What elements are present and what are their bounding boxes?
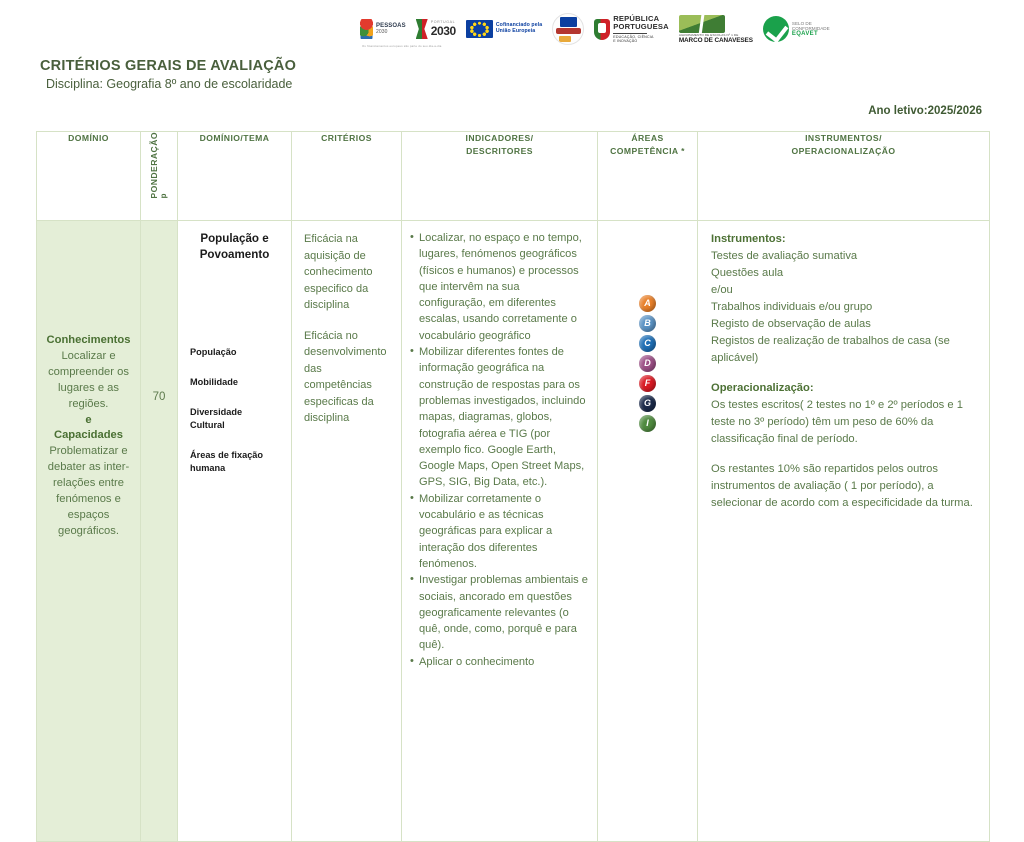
instrumento-item: Questões aula bbox=[711, 265, 975, 282]
dominio-heading-conhecimentos: Conhecimentos bbox=[47, 334, 131, 346]
competence-badge-i: I bbox=[639, 415, 656, 432]
dominio-heading-capacidades: Capacidades bbox=[54, 429, 123, 441]
instrumento-item: Testes de avaliação sumativa bbox=[711, 248, 975, 265]
operacionalizacao-heading: Operacionalização: bbox=[711, 382, 814, 394]
hills-icon bbox=[679, 15, 725, 33]
cell-dominio-tema: População e Povoamento População Mobilid… bbox=[178, 221, 292, 842]
logo-disclaimer: Os financiamentos europeus são parte do … bbox=[362, 44, 441, 48]
criterio-item: Eficácia na aquisição de conhecimento es… bbox=[304, 231, 392, 314]
column-header-ponderacao-label: PONDERAÇÃO bbox=[148, 132, 161, 199]
column-header-ponderacao: PONDERAÇÃOp bbox=[141, 132, 178, 221]
column-header-instrumentos: INSTRUMENTOS/ OPERACIONALIZAÇÃO bbox=[698, 132, 990, 221]
table-header-row: DOMÍNIO PONDERAÇÃOp DOMÍNIO/TEMA CRITÉRI… bbox=[37, 132, 990, 221]
criterios-avaliacao-document: { "header": { "title": "CRITÉRIOS GERAIS… bbox=[0, 0, 1024, 724]
list-item: Aplicar o conhecimento bbox=[410, 654, 589, 670]
column-header-ponderacao-suffix: p bbox=[158, 193, 170, 198]
indicadores-list: Localizar, no espaço e no tempo, lugares… bbox=[410, 230, 589, 670]
page-subtitle: Disciplina: Geografia 8º ano de escolari… bbox=[46, 77, 292, 91]
list-item: Localizar, no espaço e no tempo, lugares… bbox=[410, 230, 589, 344]
list-item: Investigar problemas ambientais e sociai… bbox=[410, 572, 589, 653]
cell-criterios: Eficácia na aquisição de conhecimento es… bbox=[292, 221, 402, 842]
list-item: Diversidade Cultural bbox=[190, 406, 279, 432]
operacionalizacao-block: Operacionalização: Os testes escritos( 2… bbox=[711, 380, 975, 448]
eu-flag-icon bbox=[466, 20, 493, 38]
marco-logo-line2: MARCO DE CANAVESES bbox=[679, 37, 753, 44]
column-header-areas-competencia: ÁREAS COMPETÊNCIA * bbox=[598, 132, 698, 221]
column-header-dominio-tema: DOMÍNIO/TEMA bbox=[178, 132, 292, 221]
cell-dominio: Conhecimentos Localizar e compreender os… bbox=[37, 221, 141, 842]
column-header-indicadores: INDICADORES/ DESCRITORES bbox=[402, 132, 598, 221]
tema-list: População Mobilidade Diversidade Cultura… bbox=[190, 346, 279, 474]
cell-ponderacao: 70 bbox=[141, 221, 178, 842]
table-row: Conhecimentos Localizar e compreender os… bbox=[37, 221, 990, 842]
eqavet-logo: SELO DE CONFORMIDADE EQAVET bbox=[763, 12, 830, 46]
dominio-text-capacidades: Problematizar e debater as inter-relaçõe… bbox=[45, 444, 132, 539]
column-header-dominio: DOMÍNIO bbox=[37, 132, 141, 221]
republica-portuguesa-seal-logo bbox=[552, 12, 584, 46]
portugal-2030-logo-line2: 2030 bbox=[431, 24, 456, 38]
cell-instrumentos: Instrumentos: Testes de avaliação sumati… bbox=[698, 221, 990, 842]
eqavet-logo-line1: SELO DE CONFORMIDADE bbox=[792, 21, 830, 31]
uniao-europeia-logo-line2: União Europeia bbox=[496, 29, 542, 35]
competence-badge-list: A B C D F G I bbox=[639, 295, 656, 435]
column-header-areas-line2: COMPETÊNCIA * bbox=[598, 145, 697, 158]
uniao-europeia-logo: Cofinanciado pela União Europeia bbox=[466, 12, 542, 46]
eqavet-logo-line2: EQAVET bbox=[792, 31, 830, 37]
republica-portuguesa-logo: REPÚBLICA PORTUGUESA EDUCAÇÃO, CIÊNCIA E… bbox=[594, 12, 669, 46]
portugal-2030-mark-icon bbox=[416, 19, 428, 39]
criterio-item: Eficácia no desenvolvimento das competên… bbox=[304, 328, 392, 427]
pessoas-2030-logo: PESSOAS 2030 bbox=[360, 12, 406, 46]
operacionalizacao-paragraph-2: Os restantes 10% são repartidos pelos ou… bbox=[711, 461, 975, 512]
republica-portuguesa-rule bbox=[613, 33, 647, 34]
portugal-shield-icon bbox=[594, 19, 610, 40]
list-item: Áreas de fixação humana bbox=[190, 449, 279, 475]
instrumento-item: Registo de observação de aulas bbox=[711, 316, 975, 333]
portugal-2030-logo: PORTUGAL 2030 bbox=[416, 12, 456, 46]
column-header-indicadores-line2: DESCRITORES bbox=[402, 145, 597, 158]
marco-de-canaveses-logo: AGRUPAMENTO DE ESCOLAS Nº 1 DE MARCO DE … bbox=[679, 12, 753, 46]
cell-indicadores: Localizar, no espaço e no tempo, lugares… bbox=[402, 221, 598, 842]
republica-portuguesa-logo-line2: PORTUGUESA bbox=[613, 23, 669, 32]
column-header-instrumentos-line1: INSTRUMENTOS/ bbox=[698, 132, 989, 145]
instrumentos-heading: Instrumentos: bbox=[711, 233, 786, 245]
competence-badge-b: B bbox=[639, 315, 656, 332]
column-header-criterios: CRITÉRIOS bbox=[292, 132, 402, 221]
competence-badge-a: A bbox=[639, 295, 656, 312]
pessoas-2030-logo-line2: 2030 bbox=[376, 30, 406, 36]
page-title: CRITÉRIOS GERAIS DE AVALIAÇÃO bbox=[40, 58, 296, 74]
column-header-indicadores-line1: INDICADORES/ bbox=[402, 132, 597, 145]
instrumentos-block: Instrumentos: Testes de avaliação sumati… bbox=[711, 231, 975, 367]
operacionalizacao-paragraph-1: Os testes escritos( 2 testes no 1º e 2º … bbox=[711, 397, 975, 448]
competence-badge-c: C bbox=[639, 335, 656, 352]
pessoas-2030-mark-icon bbox=[360, 19, 373, 39]
criteria-table: DOMÍNIO PONDERAÇÃOp DOMÍNIO/TEMA CRITÉRI… bbox=[36, 131, 990, 842]
list-item: Mobilidade bbox=[190, 376, 279, 389]
logo-bar: PESSOAS 2030 PORTUGAL 2030 Cofinanciado … bbox=[360, 12, 900, 58]
list-item: População bbox=[190, 346, 279, 359]
list-item: Mobilizar corretamente o vocabulário e a… bbox=[410, 491, 589, 572]
column-header-areas-line1: ÁREAS bbox=[598, 132, 697, 145]
instrumento-item: Trabalhos individuais e/ou grupo bbox=[711, 299, 975, 316]
cell-areas-competencia: A B C D F G I bbox=[598, 221, 698, 842]
dominio-text-conhecimentos: Localizar e compreender os lugares e as … bbox=[45, 349, 132, 413]
checkmark-icon bbox=[763, 16, 789, 42]
competence-badge-g: G bbox=[639, 395, 656, 412]
seal-medal-icon bbox=[552, 13, 584, 45]
tema-title: População e Povoamento bbox=[190, 231, 279, 262]
instrumento-item: Registos de realização de trabalhos de c… bbox=[711, 333, 975, 367]
school-year-label: Ano letivo:2025/2026 bbox=[868, 105, 982, 117]
competence-badge-f: F bbox=[639, 375, 656, 392]
competence-badge-d: D bbox=[639, 355, 656, 372]
column-header-instrumentos-line2: OPERACIONALIZAÇÃO bbox=[698, 145, 989, 158]
list-item: Mobilizar diferentes fontes de informaçã… bbox=[410, 344, 589, 491]
instrumento-item: e/ou bbox=[711, 282, 975, 299]
dominio-conjunction: e bbox=[85, 414, 91, 426]
republica-portuguesa-ministry: EDUCAÇÃO, CIÊNCIA E INOVAÇÃO bbox=[613, 35, 669, 43]
